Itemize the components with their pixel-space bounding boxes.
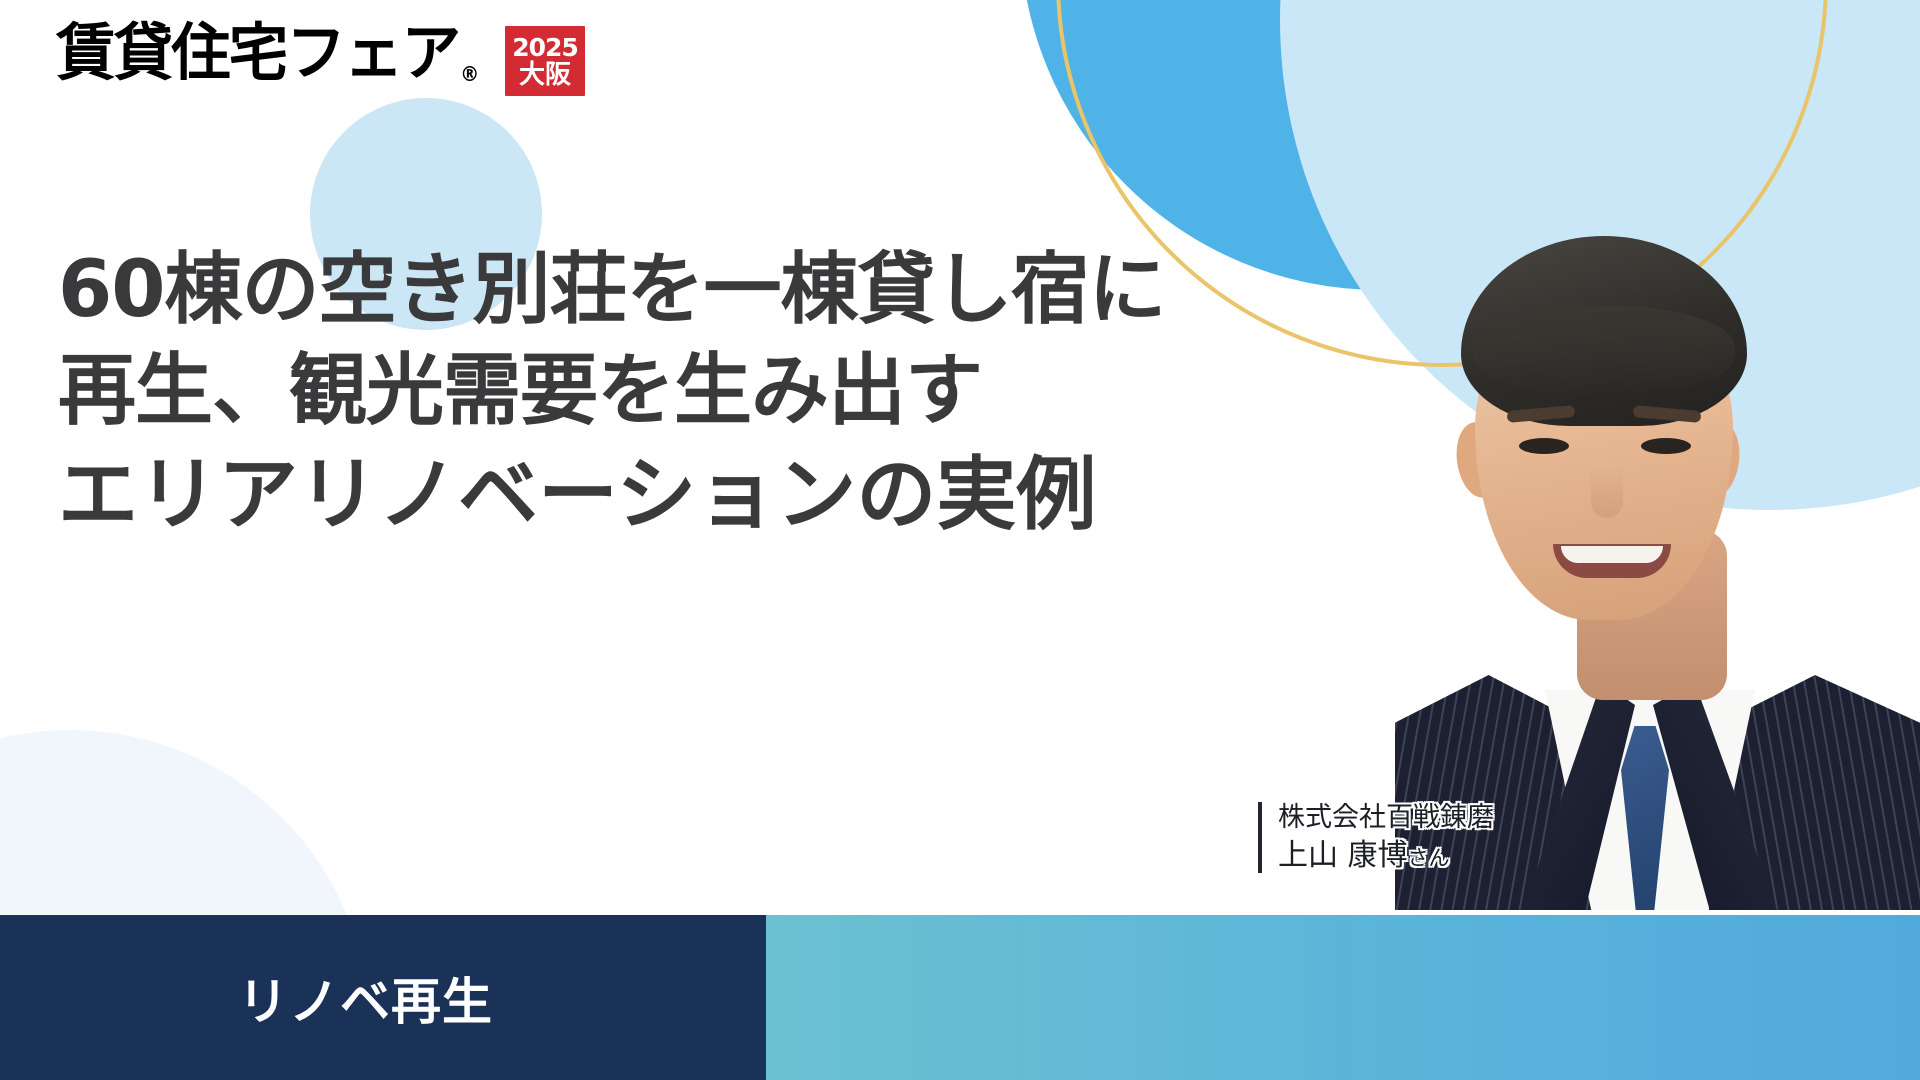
- portrait-eye-right: [1641, 438, 1691, 454]
- event-logo-badge-city: 大阪: [519, 62, 571, 88]
- speaker-company-name: 株式会社百戦錬磨: [1278, 802, 1494, 834]
- speaker-honorific: さん: [1408, 846, 1450, 870]
- portrait-mouth: [1553, 544, 1671, 578]
- speaker-person-name-text: 上山 康博: [1278, 838, 1408, 873]
- bottom-bar-navy-section: リノベ再生: [0, 915, 766, 1080]
- seminar-banner: 賃貸住宅フェア® 2025 大阪 60棟の空き別荘を一棟貸し宿に 再生、観光需要…: [0, 0, 1920, 1080]
- bottom-bar-teal-section: [766, 915, 1920, 1080]
- event-logo-wordmark: 賃貸住宅フェア®: [56, 22, 477, 84]
- event-logo: 賃貸住宅フェア® 2025 大阪: [56, 22, 585, 96]
- registered-trademark-icon: ®: [460, 62, 477, 86]
- headline-line-3: エリアリノベーションの実例: [58, 443, 1166, 547]
- portrait-nose: [1591, 466, 1623, 518]
- speaker-portrait-photo: [1395, 170, 1920, 910]
- portrait-teeth: [1561, 546, 1663, 563]
- bottom-category-bar: リノベ再生: [0, 915, 1920, 1080]
- event-logo-wordmark-text: 賃貸住宅フェア: [56, 16, 459, 89]
- headline-block: 60棟の空き別荘を一棟貸し宿に 再生、観光需要を生み出す エリアリノベーションの…: [58, 240, 1166, 547]
- event-logo-edition-badge: 2025 大阪: [505, 26, 585, 96]
- headline-line-2: 再生、観光需要を生み出す: [58, 341, 1166, 442]
- speaker-credit: 株式会社百戦錬磨 上山 康博さん: [1258, 802, 1494, 873]
- category-label: リノベ再生: [238, 962, 493, 1034]
- portrait-eye-left: [1519, 438, 1569, 454]
- headline-line-1: 60棟の空き別荘を一棟貸し宿に: [58, 240, 1166, 341]
- speaker-person-name: 上山 康博さん: [1278, 838, 1494, 873]
- portrait-hair: [1461, 236, 1747, 426]
- event-logo-badge-year: 2025: [512, 35, 578, 60]
